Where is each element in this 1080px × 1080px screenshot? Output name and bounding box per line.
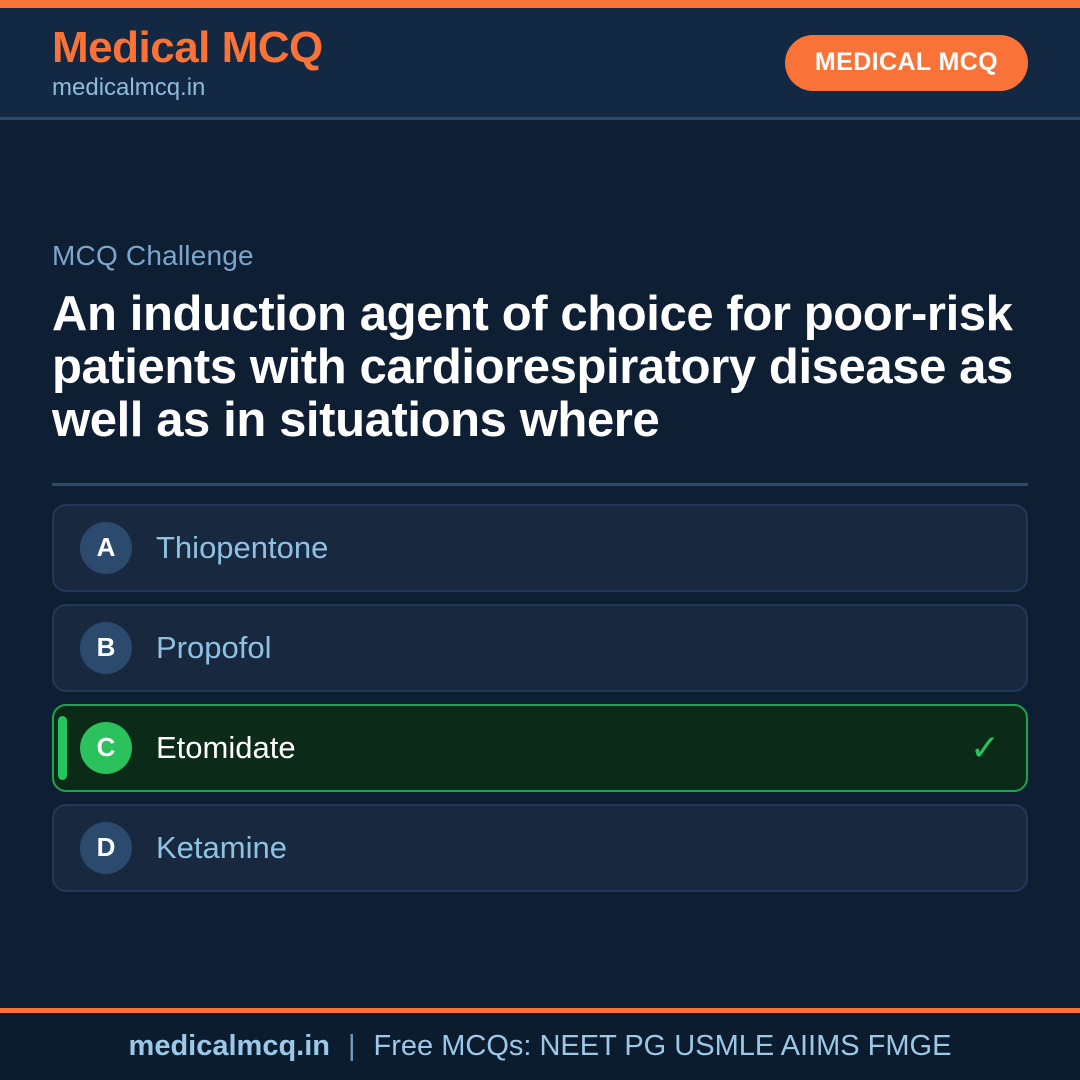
question-text: An induction agent of choice for poor-ri… bbox=[52, 288, 1028, 447]
options-list: A Thiopentone ✓ B Propofol ✓ C Etomidate… bbox=[52, 504, 1028, 892]
header-badge[interactable]: MEDICAL MCQ bbox=[785, 35, 1028, 91]
correct-accent-bar bbox=[58, 716, 67, 780]
section-divider bbox=[52, 483, 1028, 486]
option-label: Propofol bbox=[156, 630, 271, 666]
page-header: Medical MCQ medicalmcq.in MEDICAL MCQ bbox=[0, 8, 1080, 120]
brand-url: medicalmcq.in bbox=[52, 76, 323, 100]
eyebrow-label: MCQ Challenge bbox=[52, 240, 1028, 272]
option-letter-badge: D bbox=[80, 822, 132, 874]
brand-title: Medical MCQ bbox=[52, 26, 323, 70]
option-letter-badge: A bbox=[80, 522, 132, 574]
option-c[interactable]: C Etomidate ✓ bbox=[52, 704, 1028, 792]
footer-exams: NEET PG USMLE AIIMS FMGE bbox=[531, 1030, 951, 1063]
main-content: MCQ Challenge An induction agent of choi… bbox=[0, 120, 1080, 1008]
check-icon: ✓ bbox=[970, 730, 1000, 766]
top-accent-bar bbox=[0, 0, 1080, 8]
page-footer: medicalmcq.in | Free MCQs: NEET PG USMLE… bbox=[0, 1008, 1080, 1080]
option-label: Thiopentone bbox=[156, 530, 328, 566]
option-letter-badge: B bbox=[80, 622, 132, 674]
option-letter-badge: C bbox=[80, 722, 132, 774]
mcq-card: Medical MCQ medicalmcq.in MEDICAL MCQ MC… bbox=[0, 0, 1080, 1080]
option-label: Ketamine bbox=[156, 830, 287, 866]
brand-block: Medical MCQ medicalmcq.in bbox=[52, 26, 323, 100]
footer-site[interactable]: medicalmcq.in bbox=[129, 1030, 330, 1063]
option-b[interactable]: B Propofol ✓ bbox=[52, 604, 1028, 692]
option-label: Etomidate bbox=[156, 730, 296, 766]
footer-separator: | bbox=[330, 1030, 374, 1063]
option-d[interactable]: D Ketamine ✓ bbox=[52, 804, 1028, 892]
option-a[interactable]: A Thiopentone ✓ bbox=[52, 504, 1028, 592]
footer-free-label: Free MCQs: bbox=[374, 1030, 532, 1063]
